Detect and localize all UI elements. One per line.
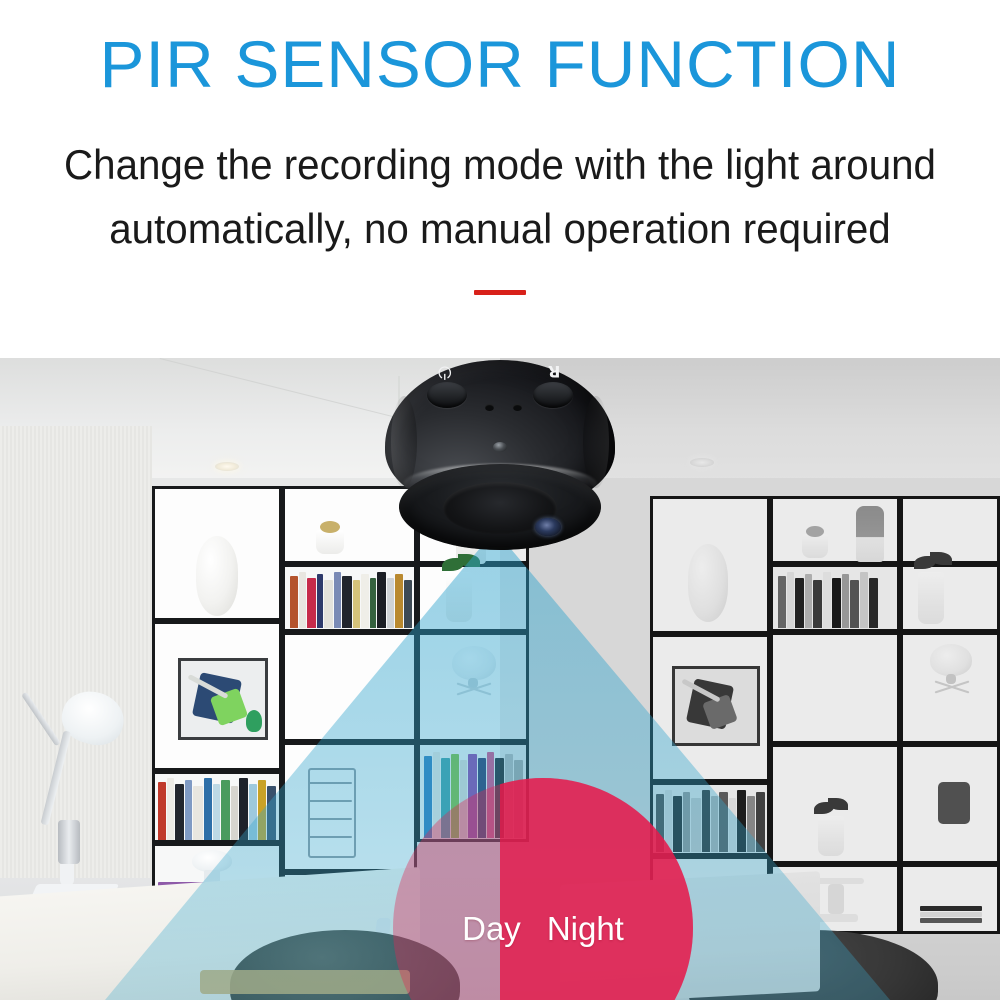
subtitle-line-1: Change the recording mode with the light… [20, 133, 980, 197]
red-divider [474, 290, 526, 295]
microphone-hole [485, 404, 494, 411]
day-night-labels: Day Night [393, 778, 693, 1000]
page-subtitle: Change the recording mode with the light… [0, 133, 1000, 261]
camera-indicator-dot [493, 442, 507, 452]
record-icon: R [548, 363, 560, 380]
power-icon: ⏻ [438, 363, 451, 380]
scene-photo: Day Night ⏻ R [0, 358, 1000, 1000]
camera-face [399, 464, 601, 550]
camera-lens-housing [443, 482, 557, 534]
header-section: PIR SENSOR FUNCTION Change the recording… [0, 0, 1000, 358]
reset-hole [513, 404, 522, 411]
day-label: Day [462, 912, 521, 945]
page-title: PIR SENSOR FUNCTION [0, 24, 1000, 104]
record-button[interactable] [533, 382, 573, 408]
subtitle-line-2: automatically, no manual operation requi… [20, 197, 980, 261]
pir-sensor-promo-page: PIR SENSOR FUNCTION Change the recording… [0, 0, 1000, 1000]
night-label: Night [547, 912, 624, 945]
power-button[interactable] [427, 382, 467, 408]
mini-camera-device: ⏻ R [385, 360, 615, 550]
camera-lens [535, 518, 561, 536]
